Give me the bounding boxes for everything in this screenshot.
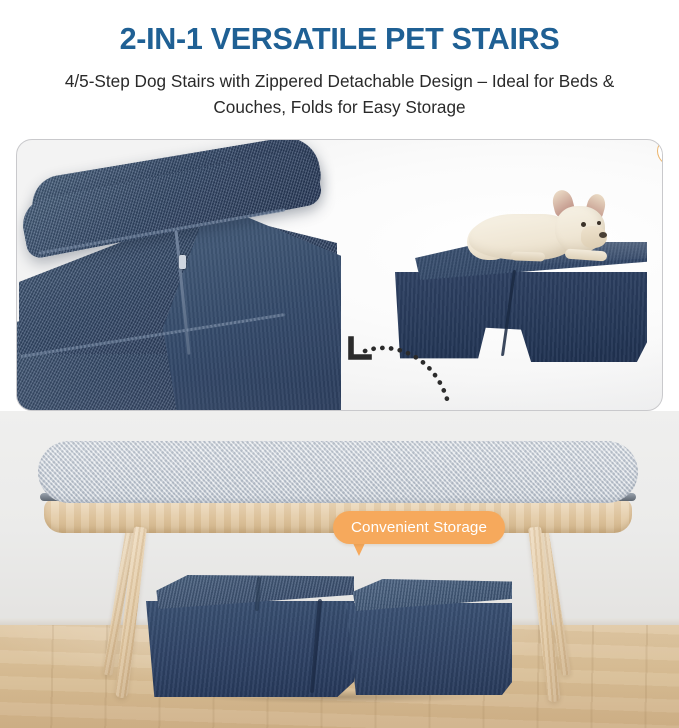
french-bulldog: ♥ <box>469 192 615 276</box>
folded-zippered-stairs-closeup <box>16 139 357 411</box>
bench-cushion-pad <box>38 441 638 503</box>
page-title: 2-IN-1 VERSATILE PET STAIRS <box>0 22 679 57</box>
product-feature-panel: ♥ <box>16 139 663 411</box>
curved-dotted-arrow-icon <box>347 337 457 409</box>
stored-right-body <box>346 603 512 695</box>
stored-left-body <box>146 601 354 697</box>
page-subtitle: 4/5-Step Dog Stairs with Zippered Detach… <box>28 68 651 120</box>
heart-icon: ♥ <box>662 140 663 166</box>
dog-hind-paw <box>511 251 545 261</box>
speech-bubble <box>657 139 663 168</box>
dog-eye-left <box>581 222 586 227</box>
dog-nose <box>599 232 607 238</box>
dog-eye-right <box>597 221 601 225</box>
header: 2-IN-1 VERSATILE PET STAIRS 4/5-Step Dog… <box>0 0 679 132</box>
dog-front-paw <box>565 249 608 262</box>
folded-pet-stairs <box>146 575 534 697</box>
storage-badge: Convenient Storage <box>333 511 505 544</box>
zipper-pull-icon <box>179 255 186 269</box>
